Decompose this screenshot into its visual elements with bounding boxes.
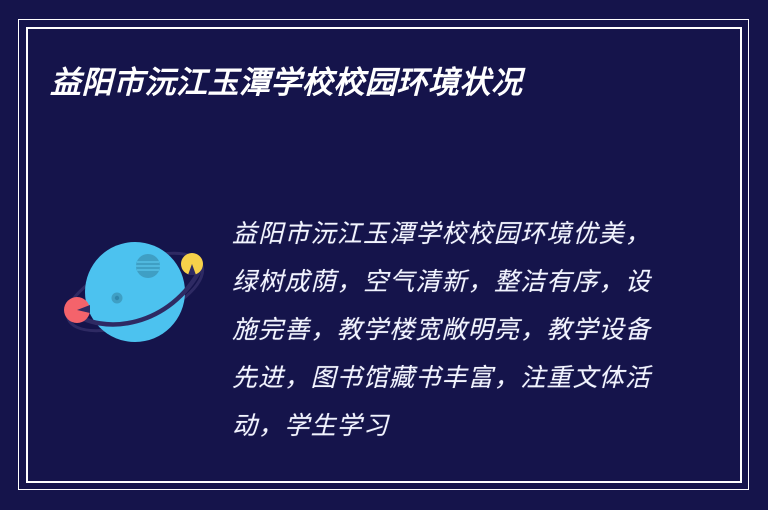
- body-text-block: 益阳市沅江玉潭学校校园环境优美，绿树成荫，空气清新，整洁有序，设施完善，教学楼宽…: [232, 210, 657, 450]
- planet-body: [85, 242, 185, 342]
- poster-canvas: 益阳市沅江玉潭学校校园环境状况: [0, 0, 768, 510]
- page-title: 益阳市沅江玉潭学校校园环境状况: [50, 58, 570, 108]
- page-title-block: 益阳市沅江玉潭学校校园环境状况: [50, 58, 570, 108]
- satellite-yellow: [181, 253, 203, 275]
- satellite-pink: [64, 297, 90, 323]
- body-paragraph: 益阳市沅江玉潭学校校园环境优美，绿树成荫，空气清新，整洁有序，设施完善，教学楼宽…: [232, 210, 657, 450]
- planet-crater-small-inner: [115, 296, 119, 300]
- planet-illustration: [55, 222, 215, 362]
